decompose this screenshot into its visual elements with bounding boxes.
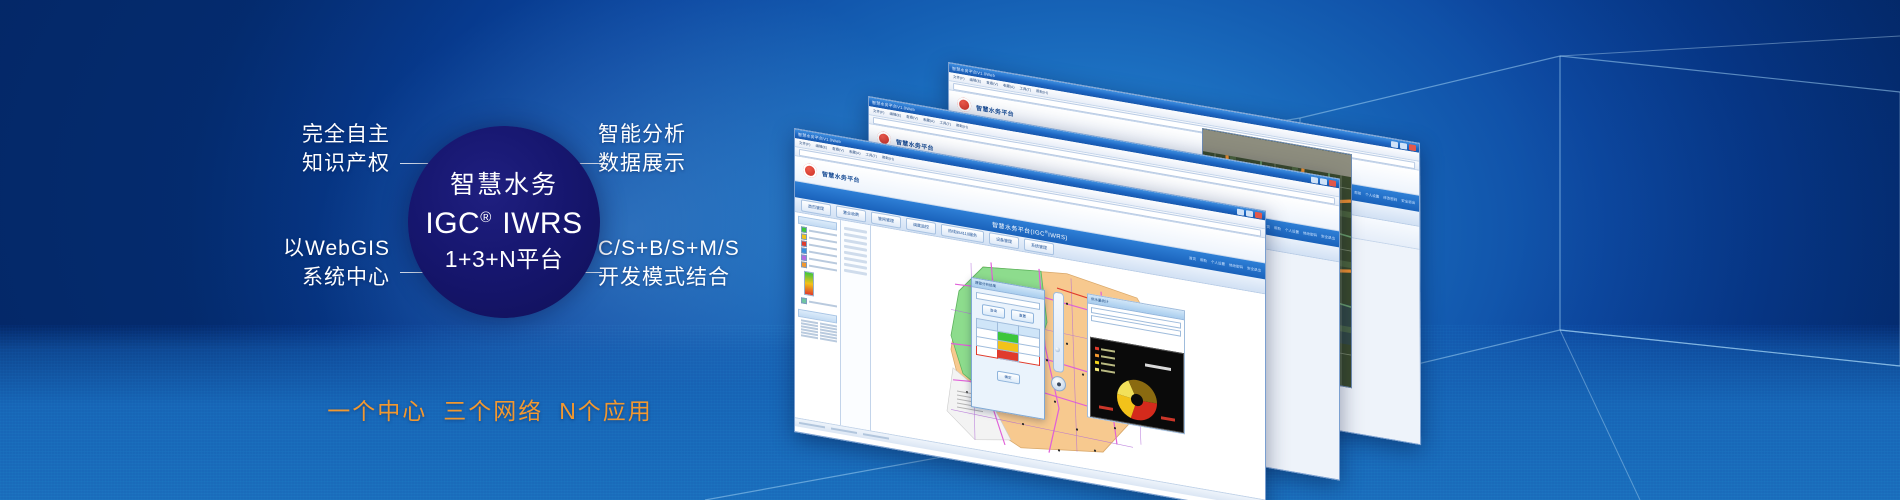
application-window-stack: 智慧水务平台V1.0Web 文件(F) 编辑(E) 查看(V) 收藏(A) 工具… — [780, 0, 1500, 430]
menu-item-fav[interactable]: 收藏(A) — [849, 149, 861, 156]
maximize-icon[interactable] — [1400, 142, 1407, 149]
core-product-name: IGC®IWRS — [425, 209, 582, 239]
maximize-icon[interactable] — [1246, 210, 1253, 217]
layer-tree-panel[interactable] — [795, 212, 841, 425]
link-profile-middle[interactable]: 个人设置 — [1285, 227, 1299, 234]
link-logout-front[interactable]: 安全退出 — [1247, 266, 1261, 273]
link-profile-back[interactable]: 个人设置 — [1365, 192, 1379, 199]
menu-item-fav[interactable]: 收藏(A) — [1003, 83, 1015, 90]
layer-swatch-icon — [801, 240, 807, 247]
core-platform-line: 1+3+N平台 — [445, 248, 564, 271]
menu-item-tools[interactable]: 工具(T) — [940, 120, 951, 127]
menu-item-edit[interactable]: 编辑(E) — [815, 143, 827, 150]
layer-swatch-icon — [801, 297, 807, 304]
menu-item-edit[interactable]: 编辑(E) — [970, 77, 982, 84]
close-icon[interactable] — [1329, 179, 1336, 186]
menu-item-file[interactable]: 文件(F) — [953, 74, 965, 81]
menu-item-tools[interactable]: 工具(T) — [1020, 86, 1032, 93]
tool-button[interactable] — [844, 269, 867, 276]
layer-swatch-icon — [801, 254, 807, 261]
menu-item-file[interactable]: 文件(F) — [873, 108, 884, 115]
feature-label-top-left: 完全自主 知识产权 — [190, 120, 390, 178]
banner-stage: 完全自主 知识产权 以WebGIS 系统中心 智能分析 数据展示 C/S+B/S… — [0, 0, 1900, 500]
registered-mark-icon: ® — [480, 209, 491, 226]
burst-analysis-dialog[interactable]: 爆管分析结果 查询 重置 — [971, 277, 1045, 420]
map-tool-panel[interactable] — [841, 220, 871, 430]
tagline-part1: 一个中心 — [327, 398, 427, 424]
link-help-back[interactable]: 帮助 — [1354, 190, 1361, 196]
maximize-icon[interactable] — [1320, 178, 1327, 185]
menu-item-view[interactable]: 查看(V) — [986, 80, 998, 87]
link-logout-middle[interactable]: 安全退出 — [1321, 234, 1335, 241]
link-profile-front[interactable]: 个人设置 — [1211, 259, 1225, 266]
layer-swatch-icon — [801, 226, 807, 233]
menu-item-help[interactable]: 帮助(H) — [1036, 89, 1048, 96]
link-password-middle[interactable]: 修改密码 — [1303, 231, 1317, 238]
risk-level-table — [976, 318, 1040, 366]
tagline-part2: 三个网络 — [443, 398, 543, 424]
core-circle: 智慧水务 IGC®IWRS 1+3+N平台 — [408, 126, 600, 318]
core-product-iwrs: IWRS — [502, 207, 582, 240]
stats-panel-title: 供水量统计 — [1091, 296, 1109, 304]
tagline-part3: N个应用 — [559, 398, 653, 424]
core-title-cn: 智慧水务 — [450, 173, 558, 198]
reset-button[interactable]: 重置 — [1011, 309, 1034, 324]
link-logout-back[interactable]: 安全退出 — [1401, 198, 1415, 205]
minimize-icon[interactable] — [1237, 208, 1244, 215]
menu-item-view[interactable]: 查看(V) — [906, 114, 918, 121]
minimize-icon[interactable] — [1311, 176, 1318, 183]
close-icon[interactable] — [1255, 211, 1262, 218]
menu-item-tools[interactable]: 工具(T) — [866, 152, 877, 159]
brand-logo-icon — [803, 163, 817, 179]
brand-name-front: 智慧水务平台 — [822, 168, 860, 184]
feature-label-top-left-line2: 知识产权 — [190, 149, 390, 178]
query-button[interactable]: 查询 — [982, 304, 1005, 319]
link-password-back[interactable]: 修改密码 — [1383, 195, 1397, 202]
menu-item-help[interactable]: 帮助(H) — [956, 123, 968, 130]
menu-item-fav[interactable]: 收藏(A) — [923, 117, 935, 124]
map-zoom-slider-front[interactable] — [1053, 291, 1064, 373]
menu-item-help[interactable]: 帮助(H) — [882, 155, 894, 162]
minimize-icon[interactable] — [1391, 140, 1398, 147]
layer-color-ramp — [804, 271, 814, 297]
link-password-front[interactable]: 修改密码 — [1229, 263, 1243, 270]
concept-diagram: 完全自主 知识产权 以WebGIS 系统中心 智能分析 数据展示 C/S+B/S… — [0, 0, 800, 500]
layer-swatch-icon — [801, 247, 807, 254]
menu-item-file[interactable]: 文件(F) — [799, 140, 810, 147]
menu-item-view[interactable]: 查看(V) — [832, 146, 844, 153]
dialog-body: 查询 重置 确定 — [972, 287, 1044, 394]
core-product-igc: IGC — [425, 207, 480, 240]
water-supply-pie-chart — [1091, 338, 1183, 432]
statusbar-segment — [799, 422, 825, 429]
feature-label-bottom-left-line2: 系统中心 — [190, 263, 390, 292]
menu-item-edit[interactable]: 编辑(E) — [889, 111, 901, 118]
layer-item[interactable] — [801, 297, 837, 309]
link-help-front[interactable]: 帮助 — [1200, 258, 1207, 264]
dialog-confirm-button[interactable]: 确定 — [997, 370, 1020, 384]
pie-chart-panel — [1090, 337, 1184, 433]
feature-label-top-left-line1: 完全自主 — [190, 120, 390, 149]
tagline: 一个中心三个网络N个应用 — [180, 392, 800, 426]
brand-logo-icon — [957, 97, 971, 113]
layer-swatch-icon — [801, 261, 807, 268]
link-help-middle[interactable]: 帮助 — [1274, 226, 1281, 232]
feature-label-bottom-left-line1: 以WebGIS — [190, 234, 390, 263]
close-icon[interactable] — [1409, 144, 1416, 151]
zoom-slider-knob[interactable] — [1055, 347, 1060, 353]
link-home-front[interactable]: 首页 — [1189, 256, 1196, 262]
statusbar-segment — [863, 433, 889, 440]
feature-label-bottom-left: 以WebGIS 系统中心 — [190, 234, 390, 292]
water-supply-stats-panel[interactable]: 供水量统计 — [1087, 293, 1185, 434]
layer-swatch-icon — [801, 233, 807, 240]
statusbar-segment — [831, 427, 857, 434]
